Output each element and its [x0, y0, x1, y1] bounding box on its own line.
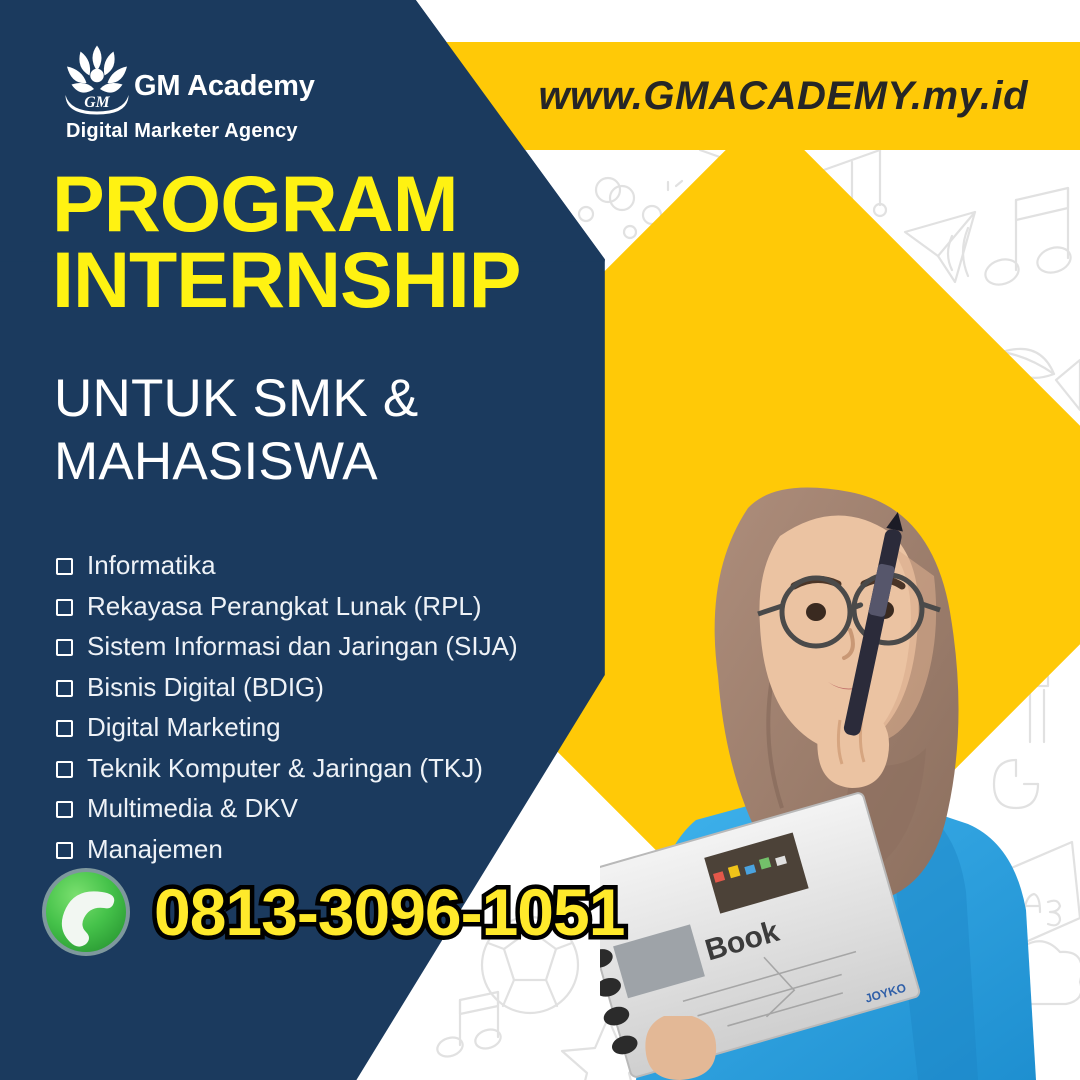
- list-item-label: Digital Marketing: [87, 707, 281, 748]
- checkbox-square-icon: [56, 720, 73, 737]
- emblem-text: GM: [84, 94, 110, 111]
- headline-line-2: INTERNSHIP: [52, 242, 520, 318]
- subtitle-line-1: UNTUK SMK &: [54, 368, 418, 431]
- list-item-label: Multimedia & DKV: [87, 788, 298, 829]
- poster-canvas: Book JOYKO: [0, 0, 1080, 1080]
- checkbox-square-icon: [56, 599, 73, 616]
- brand-logo[interactable]: GM GM Academy Digital Marketer Agency: [58, 48, 315, 143]
- list-item-label: Informatika: [87, 545, 216, 586]
- list-item: Informatika: [56, 545, 518, 586]
- student-photo: Book JOYKO: [600, 390, 1070, 1080]
- list-item-label: Bisnis Digital (BDIG): [87, 667, 324, 708]
- contact-block[interactable]: 0813-3096-1051: [40, 866, 624, 958]
- list-item-label: Teknik Komputer & Jaringan (TKJ): [87, 748, 483, 789]
- checkbox-square-icon: [56, 639, 73, 656]
- list-item: Bisnis Digital (BDIG): [56, 667, 518, 708]
- list-item-label: Manajemen: [87, 829, 223, 870]
- brand-name: GM Academy: [134, 72, 315, 101]
- list-item: Digital Marketing: [56, 707, 518, 748]
- lotus-flower-icon: GM: [58, 44, 136, 116]
- subtitle: UNTUK SMK & MAHASISWA: [54, 368, 418, 493]
- list-item: Manajemen: [56, 829, 518, 870]
- list-item: Sistem Informasi dan Jaringan (SIJA): [56, 626, 518, 667]
- list-item: Rekayasa Perangkat Lunak (RPL): [56, 586, 518, 627]
- brand-tagline: Digital Marketer Agency: [66, 120, 298, 143]
- list-item: Teknik Komputer & Jaringan (TKJ): [56, 748, 518, 789]
- phone-handset-icon[interactable]: [40, 866, 132, 958]
- phone-number[interactable]: 0813-3096-1051: [154, 874, 624, 950]
- bubbles-doodle: [579, 178, 620, 221]
- checkbox-square-icon: [56, 761, 73, 778]
- majors-list: Informatika Rekayasa Perangkat Lunak (RP…: [56, 545, 518, 869]
- subtitle-line-2: MAHASISWA: [54, 431, 418, 494]
- list-item-label: Rekayasa Perangkat Lunak (RPL): [87, 586, 482, 627]
- list-item: Multimedia & DKV: [56, 788, 518, 829]
- checkbox-square-icon: [56, 680, 73, 697]
- list-item-label: Sistem Informasi dan Jaringan (SIJA): [87, 626, 518, 667]
- checkbox-square-icon: [56, 558, 73, 575]
- music-note-doodle-2: [435, 992, 503, 1060]
- page-title: PROGRAM INTERNSHIP: [52, 166, 520, 318]
- checkbox-square-icon: [56, 842, 73, 859]
- checkbox-square-icon: [56, 801, 73, 818]
